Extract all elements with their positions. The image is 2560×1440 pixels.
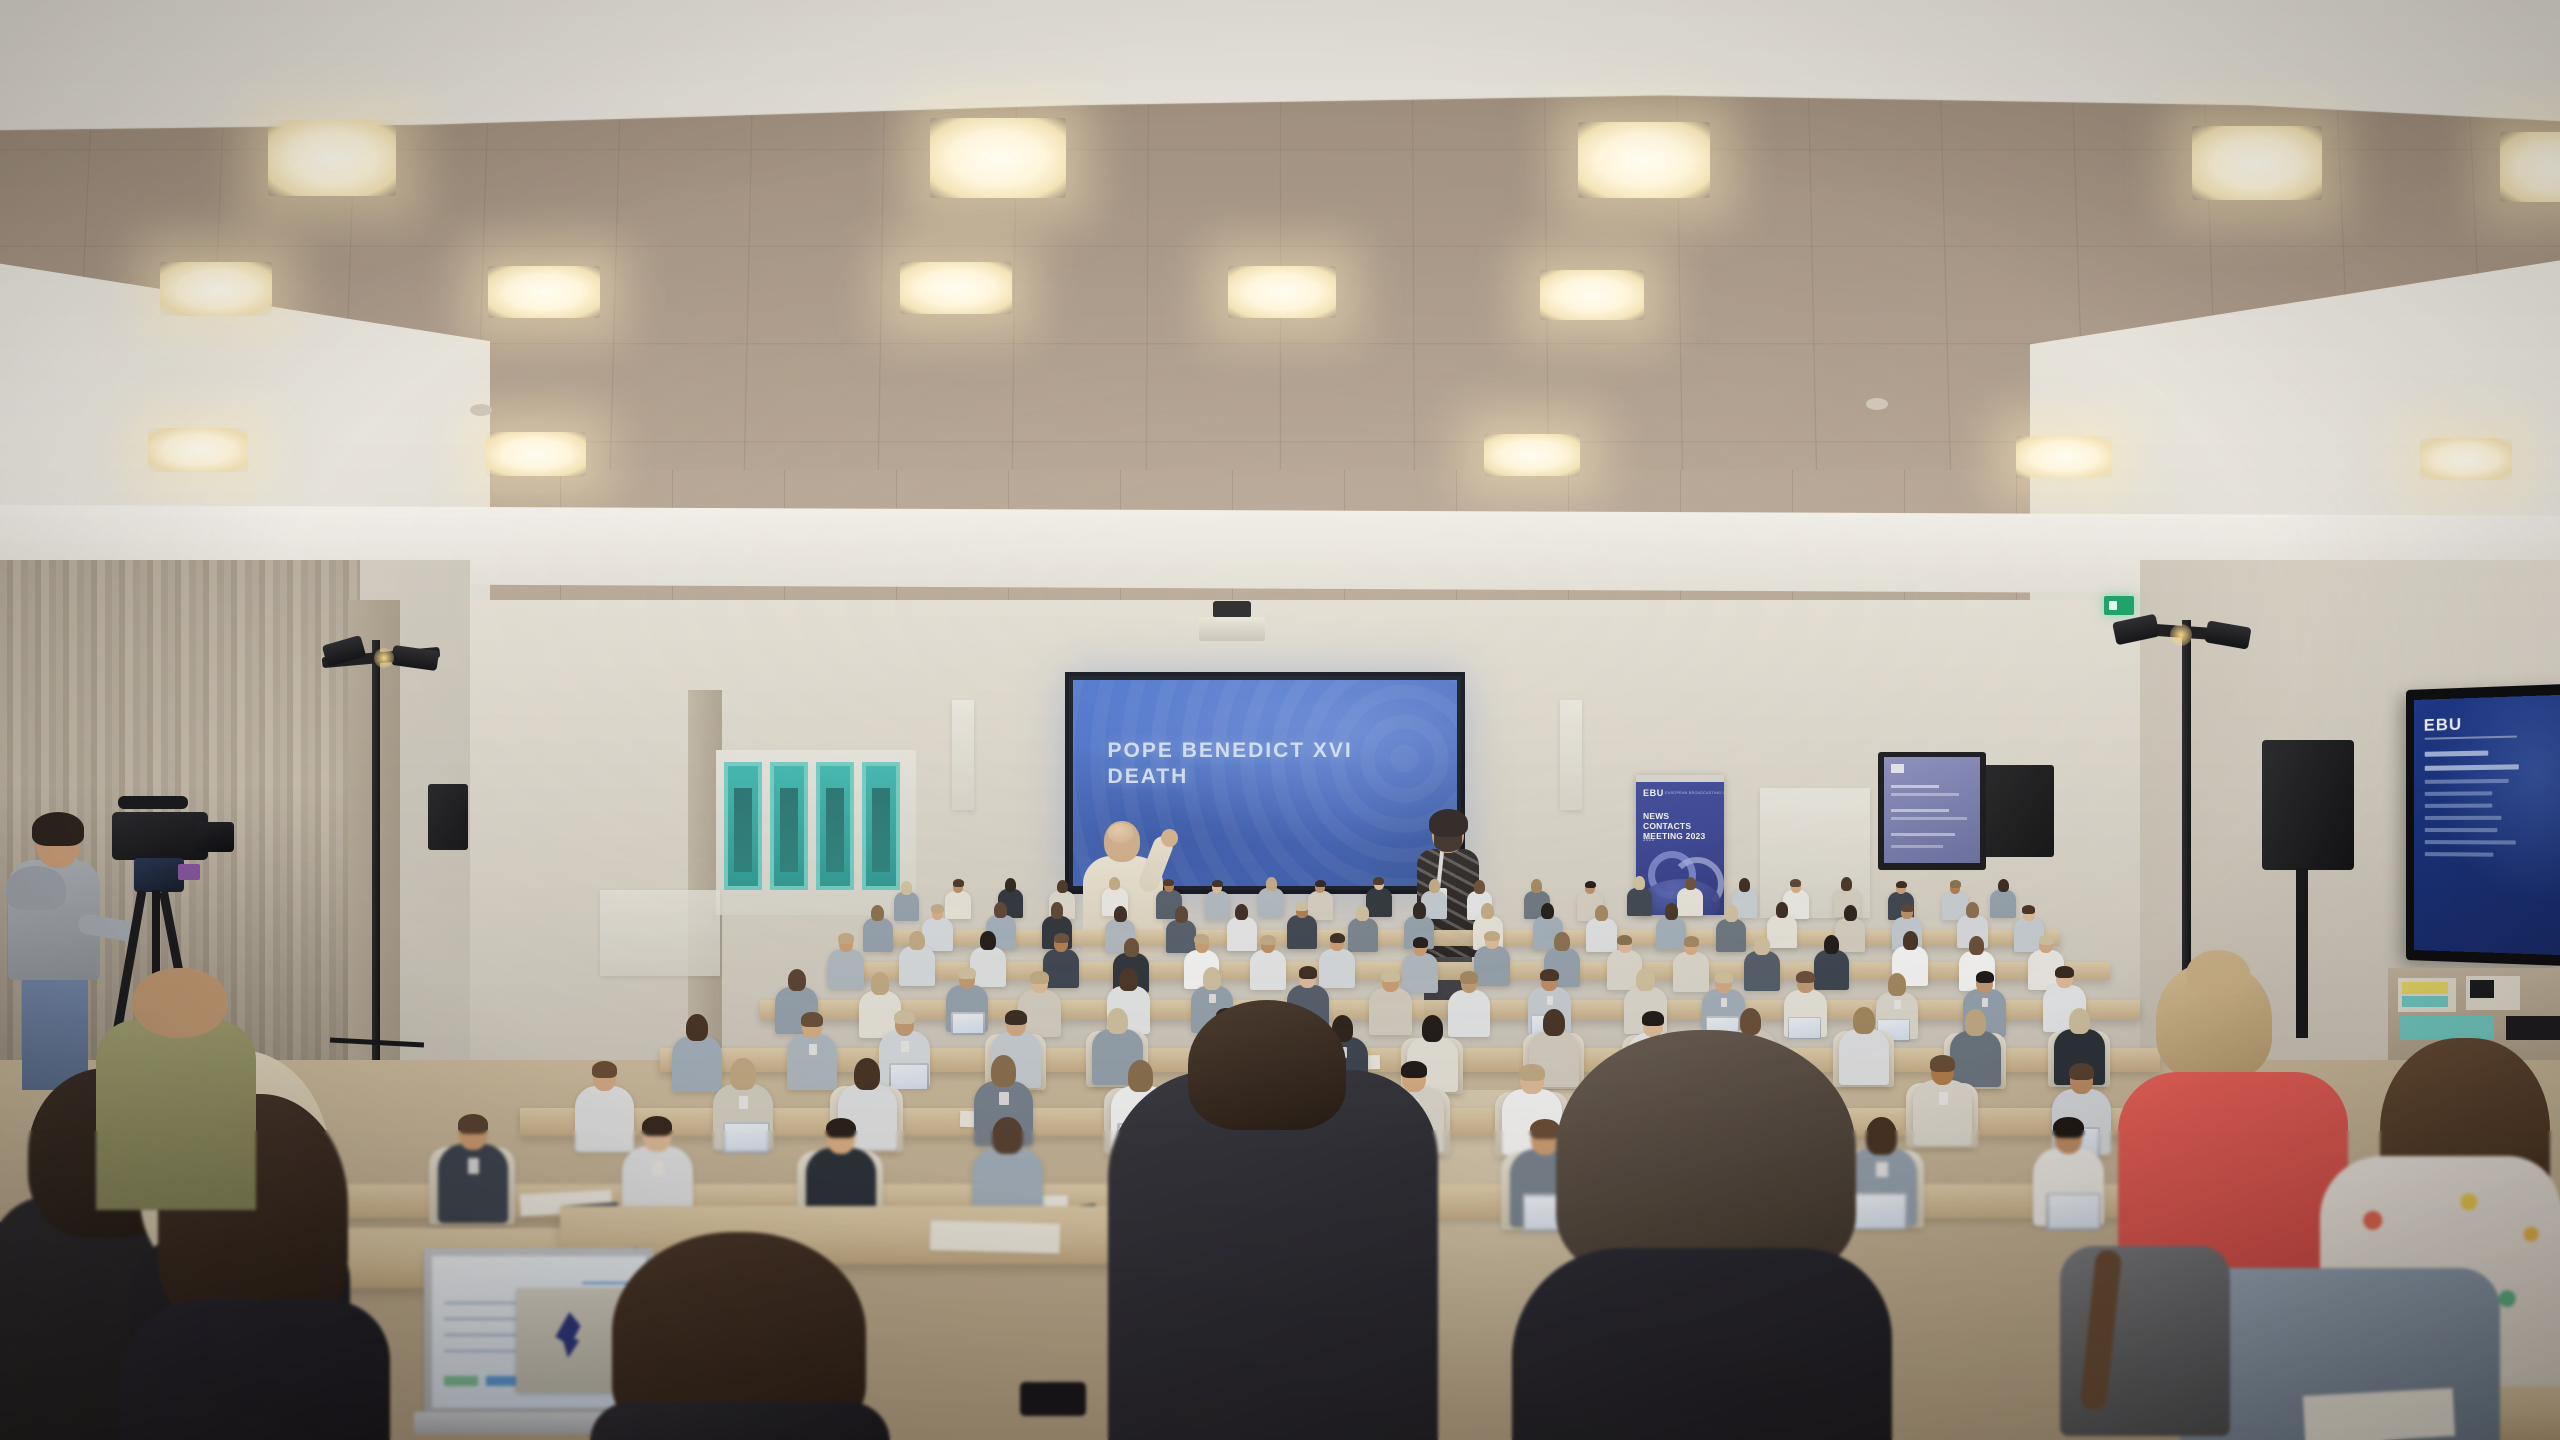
audience-member-hair	[1531, 879, 1542, 893]
audience-member-hair	[2069, 1063, 2094, 1080]
ceiling-light-upper-3	[1578, 122, 1710, 198]
audience-member-hair	[1194, 934, 1209, 944]
audience-member-torso	[1950, 1031, 2000, 1087]
banner-logo-subtitle: EUROPEAN BROADCASTING UNION	[1665, 791, 1724, 795]
audience-member-hair	[1866, 1117, 1896, 1155]
monitor-agenda-line-4	[2425, 791, 2493, 796]
audience-member-hair	[1754, 936, 1769, 955]
audience-member-hair	[1212, 880, 1223, 887]
audience-member-hair	[1965, 1009, 1987, 1036]
attendee-laptop-screen	[2049, 1195, 2099, 1228]
audience-member-torso	[1586, 918, 1616, 951]
projector-mount	[1213, 601, 1251, 618]
audience-member-hair	[1841, 877, 1852, 891]
cabinet-paper-teal-2	[2400, 1016, 2494, 1040]
audience-member-hair	[2069, 1008, 2091, 1035]
wall-speaker-right	[1982, 765, 2054, 857]
audience-member-hair	[994, 902, 1007, 918]
audience-member-torso	[1673, 952, 1709, 992]
slide-title: POPE BENEDICT XVI DEATH	[1108, 738, 1431, 791]
presenter-1-hand	[1161, 829, 1178, 847]
wall-niche-1	[724, 762, 762, 890]
ceiling-light-bottom-3	[1484, 434, 1580, 476]
audience-member-hair	[871, 905, 884, 921]
audience-member-hair	[1315, 880, 1326, 887]
audience-member-hair	[2053, 1117, 2083, 1137]
ceiling-light-lower-5	[1540, 270, 1644, 320]
audience-member-hair	[1422, 1015, 1444, 1042]
audience-member-torso	[1369, 988, 1412, 1035]
attendee-badge	[468, 1158, 479, 1173]
video-camera-body	[112, 812, 208, 860]
pa-speaker-stand	[2296, 868, 2308, 1038]
audience-member-hair	[1790, 879, 1801, 886]
audience-member-hair	[730, 1058, 755, 1090]
banner-top-rail	[1636, 775, 1724, 782]
audience-member-hair	[1054, 933, 1069, 943]
audience-member-torso	[1205, 891, 1231, 920]
audience-member-torso	[1677, 888, 1703, 917]
audience-member-hair	[1903, 931, 1918, 950]
audience-member-hair	[1401, 1061, 1426, 1078]
audience-member-torso	[1402, 953, 1438, 993]
audience-member-hair	[1776, 902, 1789, 918]
attendee-badge	[1982, 998, 1989, 1007]
ceiling-light-upper-1	[268, 120, 396, 196]
secondary-monitor-screen	[1884, 757, 1980, 863]
audience-member-hair	[1109, 877, 1120, 891]
audience-member-hair	[1976, 971, 1994, 983]
audience-member-hair	[1739, 878, 1750, 892]
audience-member-torso	[1287, 915, 1317, 948]
ceiling-light-bottom-5	[2420, 438, 2512, 480]
audience-member-hair	[1998, 879, 2009, 893]
cabinet-paper-dark	[2470, 980, 2494, 998]
audience-member-hair	[1460, 971, 1478, 983]
attendee-laptop-screen	[1854, 1195, 1904, 1228]
person-coral-top-bun	[2186, 950, 2250, 998]
slide-title-line-2: DEATH	[1108, 764, 1431, 790]
conference-room-photo: POPE BENEDICT XVI DEATH EBU EUROPEAN BRO…	[0, 0, 2560, 1440]
audience-member-torso	[1308, 891, 1334, 920]
audience-member-torso	[1716, 919, 1746, 952]
audience-member-hair	[1005, 1010, 1027, 1025]
audience-member-hair	[1617, 935, 1632, 945]
audience-member-hair	[592, 1061, 617, 1078]
ceiling-light-bottom-4	[2016, 436, 2112, 478]
audience-member-hair	[1540, 969, 1558, 981]
camera-operator-hair	[32, 812, 84, 846]
audience-member-torso	[1448, 990, 1491, 1037]
audience-member-torso	[1319, 949, 1355, 989]
audience-member-hair	[991, 1055, 1016, 1087]
audience-member-hair	[1715, 971, 1733, 983]
monitor-agenda-line-7	[2425, 828, 2498, 832]
audience-member-hair	[1634, 876, 1645, 890]
audience-member-hair	[1896, 881, 1907, 888]
wall-panel-back-left	[600, 890, 720, 976]
banner-logo: EBU	[1643, 788, 1664, 798]
wall-speaker-left	[428, 784, 468, 850]
monitor-agenda-line-1	[2425, 750, 2489, 756]
smoke-detector-right	[1866, 398, 1888, 410]
audience-member-torso	[1744, 951, 1780, 991]
audience-member-torso	[1913, 1080, 1972, 1146]
audience-member-hair	[838, 933, 853, 943]
attendee-badge	[1547, 996, 1554, 1005]
audience-member-hair	[1930, 1055, 1955, 1072]
attendee-laptop-screen	[891, 1065, 927, 1088]
audience-member-hair	[788, 969, 806, 992]
audience-member-hair	[1740, 1008, 1762, 1035]
audience-member-torso	[894, 892, 920, 921]
audience-member-torso	[1627, 888, 1653, 917]
audience-member-hair	[980, 931, 995, 950]
exit-sign	[2104, 596, 2134, 615]
audience-member-torso	[575, 1086, 634, 1152]
right-monitor-logo: EBU	[2424, 715, 2462, 736]
audience-member-hair	[1373, 877, 1384, 884]
audience-member-hair	[686, 1014, 708, 1041]
audience-member-hair	[1665, 903, 1678, 919]
ceiling-projector	[1199, 617, 1265, 641]
monitor-agenda-line-9	[2425, 852, 2494, 857]
audience-member-hair	[909, 931, 924, 950]
foreground-ebu-handout	[2303, 1388, 2455, 1440]
monitor-agenda-line-2	[2425, 764, 2519, 771]
audience-member-hair	[1175, 906, 1188, 922]
ceiling-light-lower-3	[900, 262, 1012, 314]
light-stand-left-pole	[372, 640, 380, 1060]
presenter-2-hair	[1429, 809, 1468, 837]
banner-title: NEWS CONTACTS MEETING 2023	[1643, 811, 1719, 841]
ceiling-light-lower-1	[160, 262, 272, 316]
camera-monitor	[178, 864, 200, 880]
audience-member-hair	[1381, 970, 1399, 982]
wall-niche-2	[770, 762, 808, 890]
audience-member-hair	[992, 1117, 1022, 1155]
attendee-badge	[809, 1044, 817, 1055]
attendee-laptop-screen	[1789, 1018, 1819, 1038]
audience-member-hair	[1266, 877, 1277, 891]
audience-member-torso	[1227, 917, 1257, 950]
audience-member-hair	[1585, 881, 1596, 888]
audience-member-hair	[958, 967, 976, 979]
fg-person-greyhair-right	[1556, 1030, 1856, 1280]
fg-person-suit-right-head	[1188, 1000, 1346, 1130]
monitor-agenda-line-6	[2425, 816, 2501, 820]
audience-member-hair	[1124, 938, 1139, 957]
audience-member-torso	[945, 891, 971, 920]
audience-member-hair	[1107, 1008, 1129, 1035]
audience-member-torso	[1366, 888, 1392, 917]
fg-person-center-body	[590, 1402, 890, 1440]
audience-member-hair	[1966, 902, 1979, 918]
audience-member-torso	[1767, 915, 1797, 948]
audience-member-hair	[1299, 966, 1317, 978]
cabinet-paper-yellow	[2402, 982, 2448, 994]
ceiling-light-lower-4	[1228, 266, 1336, 318]
audience-member-hair	[2022, 905, 2035, 914]
foreground-paper-mid	[930, 1220, 1061, 1253]
audience-member-hair	[1128, 1060, 1153, 1092]
audience-member-hair	[1595, 905, 1608, 921]
audience-member-torso	[1166, 920, 1196, 953]
audience-member-hair	[1796, 971, 1814, 983]
right-monitor-screen: EBU	[2414, 695, 2560, 956]
audience-member-torso	[1043, 949, 1079, 989]
audience-member-hair	[1824, 935, 1839, 954]
wall-niche-3	[816, 762, 854, 890]
audience-member-hair	[642, 1116, 672, 1136]
audience-member-hair	[1330, 933, 1345, 943]
presenter-1-head-highlight	[1108, 823, 1134, 843]
audience-member-hair	[1057, 880, 1068, 894]
audience-member-hair	[1888, 973, 1906, 996]
audience-member-torso	[970, 947, 1006, 987]
attendee-badge	[652, 1161, 663, 1176]
audience-member-hair	[1901, 904, 1914, 913]
video-camera-mic	[118, 796, 188, 809]
audience-member-torso	[1258, 888, 1284, 917]
camera-operator-hood	[6, 866, 66, 910]
audience-member-hair	[1051, 902, 1064, 918]
audience-member-hair	[1005, 878, 1016, 892]
stage-lamp-left-glow	[374, 648, 394, 668]
ceiling-light-upper-4	[2192, 126, 2322, 200]
audience-member-hair	[1481, 903, 1494, 919]
monitor-agenda-line-8	[2425, 840, 2516, 844]
audience-member-hair	[1969, 936, 1984, 955]
audience-member-torso	[1839, 1029, 1889, 1085]
audience-member-hair	[1543, 1009, 1565, 1036]
audience-member-torso	[863, 918, 893, 951]
audience-member-hair	[1260, 935, 1275, 945]
attendee-badge	[1209, 994, 1216, 1003]
audience-member-hair	[1413, 902, 1426, 918]
ceiling-light-bottom-1	[148, 428, 248, 472]
audience-member-hair	[1541, 903, 1554, 919]
audience-member-torso	[1348, 918, 1378, 951]
audience-member-torso	[1474, 946, 1510, 986]
audience-member-hair	[1413, 937, 1428, 947]
audience-member-torso	[1656, 917, 1686, 950]
audience-member-torso	[828, 949, 864, 989]
audience-member-hair	[1725, 905, 1738, 921]
smoke-detector-left	[470, 404, 492, 416]
audience-member-hair	[901, 881, 912, 895]
audience-member-torso	[1250, 950, 1286, 990]
video-camera-lens	[196, 822, 234, 852]
audience-member-hair	[1119, 968, 1137, 991]
audience-member-torso	[787, 1034, 837, 1090]
ceiling-light-upper-2	[930, 118, 1066, 198]
audience-member-hair	[1530, 1119, 1560, 1139]
audience-member-hair	[894, 1010, 916, 1025]
foreground-phone	[1020, 1382, 1086, 1416]
audience-member-hair	[826, 1118, 856, 1138]
audience-member-hair	[1642, 1011, 1664, 1026]
audience-member-hair	[871, 972, 889, 995]
audience-member-hair	[1429, 879, 1440, 893]
acoustic-panel-right	[1560, 700, 1582, 810]
audience-member-torso	[672, 1036, 722, 1092]
stage-lamp-right-glow	[2170, 624, 2192, 646]
audience-member-hair	[1235, 904, 1248, 920]
audience-member-hair	[1950, 880, 1961, 887]
attendee-badge	[901, 1041, 909, 1052]
audience-member-torso	[1814, 950, 1850, 990]
fg-person-olive-shirt	[96, 1020, 256, 1210]
fg-person-greyhair-right-body	[1512, 1248, 1892, 1440]
attendee-laptop-screen	[953, 1014, 983, 1034]
attendee-badge	[1876, 1162, 1887, 1177]
banner-date: 2023	[1643, 837, 1654, 842]
fg-person-darkhair-left-body	[120, 1300, 390, 1440]
audience-member-hair	[1163, 879, 1174, 886]
attendee-badge	[999, 1092, 1009, 1105]
fg-person-olive-head	[132, 968, 228, 1038]
attendee-badge	[1721, 998, 1728, 1007]
audience-member-hair	[953, 879, 964, 886]
audience-member-hair	[854, 1058, 879, 1090]
audience-member-hair	[1685, 877, 1696, 891]
audience-member-hair	[1295, 902, 1308, 911]
cabinet-paper-dark-2	[2506, 1016, 2560, 1040]
audience-member-hair	[931, 904, 944, 913]
audience-member-hair	[1853, 1007, 1875, 1034]
audience-member-hair	[1554, 932, 1569, 951]
wall-niche-4	[862, 762, 900, 890]
audience-member-hair	[1844, 905, 1857, 921]
right-monitor-rule	[2425, 736, 2517, 740]
ceiling-light-bottom-2	[486, 432, 586, 476]
audience-member-torso	[899, 946, 935, 986]
audience-member-hair	[1474, 880, 1485, 894]
audience-member-hair	[1114, 906, 1127, 922]
monitor-agenda-line-5	[2425, 804, 2493, 808]
audience-member-hair	[1519, 1064, 1544, 1081]
ceiling-light-upper-5	[2500, 132, 2560, 202]
camera-tripod-head	[134, 858, 184, 892]
acoustic-panel-left	[952, 700, 974, 810]
audience-member-torso	[1990, 890, 2016, 919]
audience-member-hair	[1203, 967, 1221, 990]
audience-member-torso	[438, 1144, 509, 1222]
audience-member-hair	[1636, 968, 1654, 991]
ceiling-light-lower-2	[488, 266, 600, 318]
audience-member-torso	[1835, 918, 1865, 951]
attendee-badge	[739, 1096, 749, 1109]
monitor-agenda-line-3	[2425, 779, 2509, 784]
audience-member-hair	[2055, 966, 2073, 978]
audience-member-hair	[1356, 905, 1369, 921]
audience-member-hair	[2039, 935, 2054, 945]
audience-member-hair	[801, 1012, 823, 1027]
pa-speaker	[2262, 740, 2354, 870]
slide-title-line-1: POPE BENEDICT XVI	[1108, 738, 1431, 764]
attendee-badge	[1939, 1092, 1949, 1105]
cabinet-paper-teal	[2402, 996, 2448, 1007]
audience-member-hair	[458, 1114, 488, 1134]
audience-member-hair	[1484, 931, 1499, 941]
audience-member-hair	[1684, 936, 1699, 946]
attendee-laptop-screen	[725, 1124, 767, 1152]
attendee-badge	[1894, 1000, 1901, 1009]
audience-member-hair	[1030, 971, 1048, 983]
